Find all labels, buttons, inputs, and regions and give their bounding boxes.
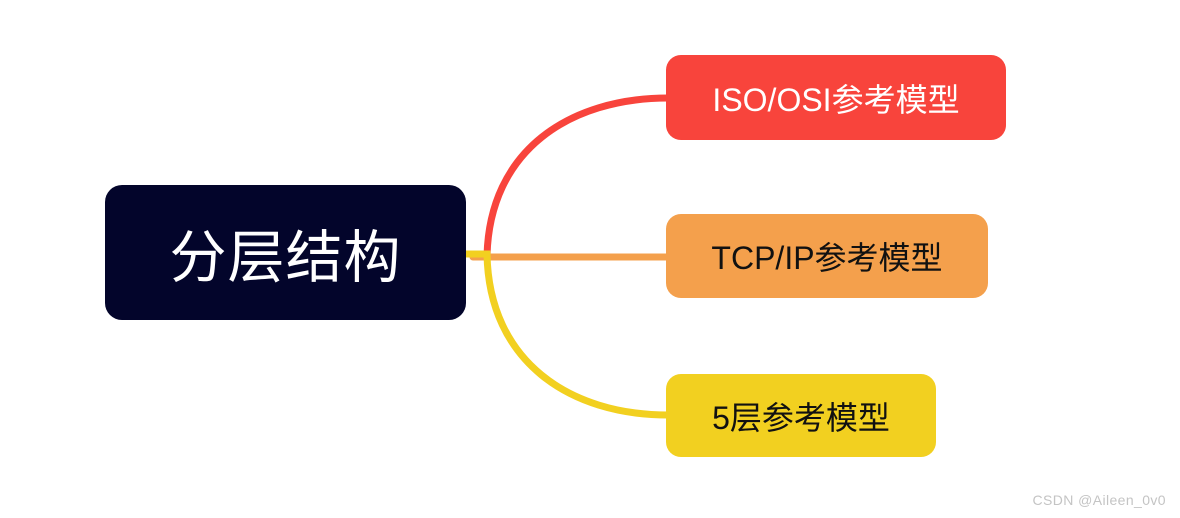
root-node-label: 分层结构 <box>170 212 402 294</box>
root-node-layered-structure[interactable]: 分层结构 <box>105 185 466 320</box>
branch-node-tcp-ip[interactable]: TCP/IP参考模型 <box>666 214 988 298</box>
branch-node-iso-osi-label: ISO/OSI参考模型 <box>712 75 959 121</box>
connector-to-iso-osi <box>487 98 668 257</box>
watermark-text: CSDN @Aileen_0v0 <box>1033 492 1166 508</box>
connector-to-five-layer <box>466 254 668 415</box>
branch-node-iso-osi[interactable]: ISO/OSI参考模型 <box>666 55 1006 140</box>
branch-node-five-layer-label: 5层参考模型 <box>712 393 890 439</box>
branch-node-five-layer[interactable]: 5层参考模型 <box>666 374 936 457</box>
branch-node-tcp-ip-label: TCP/IP参考模型 <box>711 233 942 279</box>
diagram-canvas: 分层结构 ISO/OSI参考模型 TCP/IP参考模型 5层参考模型 CSDN … <box>0 0 1180 518</box>
